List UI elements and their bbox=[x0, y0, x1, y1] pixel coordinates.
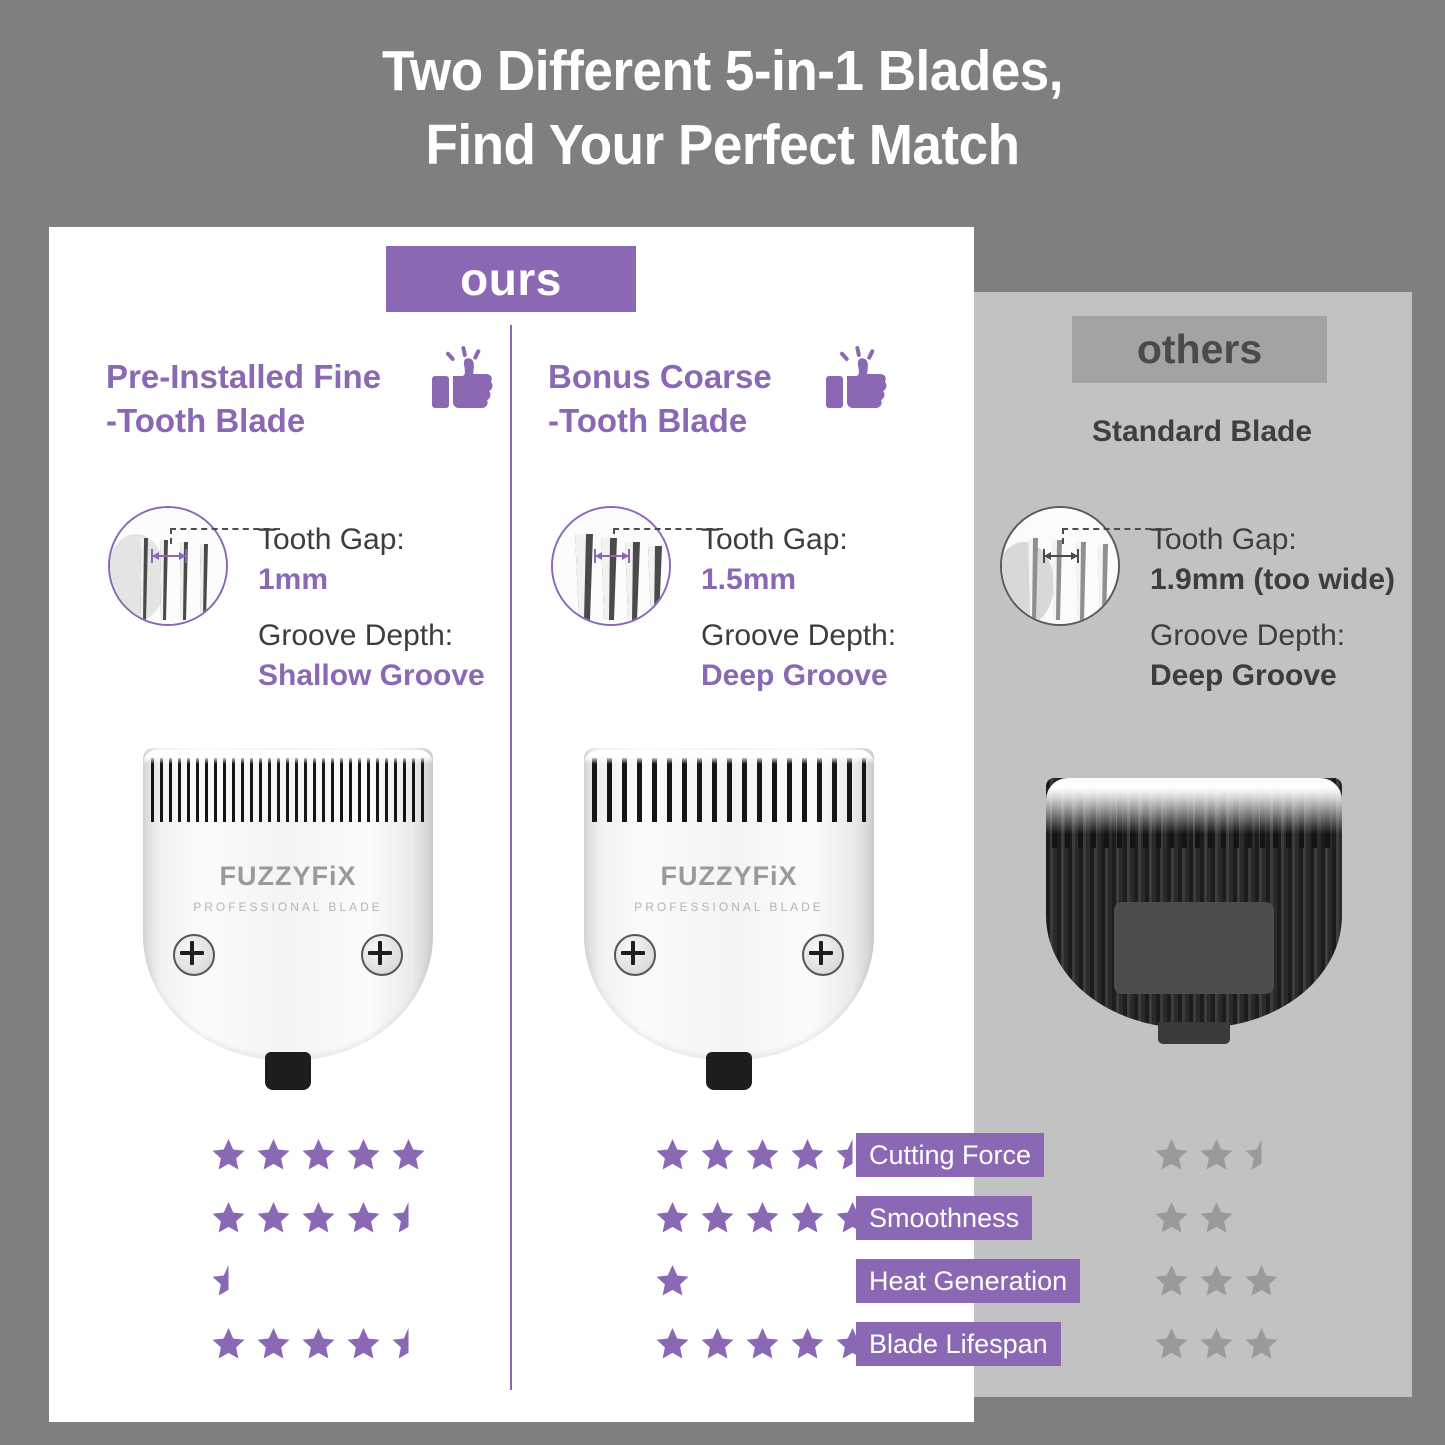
blade-image-coarse: FUZZYFiX PROFESSIONAL BLADE bbox=[584, 692, 874, 1072]
blade-teeth bbox=[151, 758, 425, 822]
groove-depth-value: Deep Groove bbox=[701, 656, 1031, 696]
blade-mount-tab bbox=[1158, 1022, 1229, 1044]
star-icon bbox=[791, 1138, 824, 1171]
groove-depth-label: Groove Depth: bbox=[701, 616, 1031, 656]
others-badge: others bbox=[1072, 316, 1327, 383]
tooth-gap-label: Tooth Gap: bbox=[1150, 520, 1445, 560]
star-icon bbox=[257, 1138, 290, 1171]
page-title: Two Different 5-in-1 Blades, Find Your P… bbox=[51, 34, 1395, 182]
thumbs-up-icon bbox=[432, 346, 494, 414]
star-icon bbox=[302, 1138, 335, 1171]
title-line-1: Two Different 5-in-1 Blades, bbox=[382, 39, 1063, 103]
blade-mount-tab bbox=[706, 1052, 752, 1090]
blade-mount-tab bbox=[265, 1052, 311, 1090]
blade-teeth bbox=[1052, 786, 1336, 848]
star-icon-half bbox=[392, 1327, 425, 1360]
star-icon bbox=[347, 1201, 380, 1234]
star-icon bbox=[656, 1201, 689, 1234]
star-icon bbox=[392, 1138, 425, 1171]
star-icon bbox=[656, 1264, 689, 1297]
magnifier-circle-coarse bbox=[551, 506, 671, 626]
rating-stars-coarse bbox=[656, 1264, 689, 1297]
screw-right bbox=[802, 934, 844, 976]
column-divider bbox=[510, 325, 512, 1390]
star-icon bbox=[257, 1327, 290, 1360]
rating-stars-fine bbox=[212, 1327, 425, 1360]
star-icon bbox=[1200, 1201, 1233, 1234]
screw-left bbox=[614, 934, 656, 976]
blade-brand-sub: PROFESSIONAL BLADE bbox=[584, 900, 874, 914]
star-icon bbox=[1245, 1327, 1278, 1360]
groove-depth-value: Deep Groove bbox=[1150, 656, 1445, 696]
infographic-root: Two Different 5-in-1 Blades, Find Your P… bbox=[0, 0, 1445, 1445]
groove-depth-label: Groove Depth: bbox=[1150, 616, 1445, 656]
star-icon bbox=[1155, 1327, 1188, 1360]
tooth-detail-icon bbox=[1002, 508, 1118, 624]
blade-panel bbox=[1114, 902, 1274, 994]
rating-stars-fine bbox=[212, 1264, 245, 1297]
star-icon bbox=[701, 1138, 734, 1171]
star-icon bbox=[1155, 1138, 1188, 1171]
magnifier-circle-others bbox=[1000, 506, 1120, 626]
gap-arrow-icon bbox=[148, 548, 190, 564]
column-heading-coarse: Bonus Coarse -Tooth Blade bbox=[548, 355, 848, 443]
star-icon bbox=[212, 1201, 245, 1234]
star-icon bbox=[701, 1201, 734, 1234]
star-icon bbox=[791, 1201, 824, 1234]
rating-stars-others bbox=[1155, 1264, 1278, 1297]
tooth-gap-value: 1.9mm (too wide) bbox=[1150, 560, 1445, 600]
blade-body bbox=[1046, 778, 1342, 1028]
tooth-gap-label: Tooth Gap: bbox=[258, 520, 588, 560]
star-icon bbox=[656, 1138, 689, 1171]
star-icon bbox=[302, 1201, 335, 1234]
blade-brand-sub: PROFESSIONAL BLADE bbox=[143, 900, 433, 914]
rating-stars-fine bbox=[212, 1201, 425, 1234]
blade-body: FUZZYFiX PROFESSIONAL BLADE bbox=[143, 748, 433, 1060]
star-icon bbox=[1245, 1264, 1278, 1297]
tooth-gap-value: 1mm bbox=[258, 560, 588, 600]
screw-left bbox=[173, 934, 215, 976]
tooth-detail-icon bbox=[553, 508, 669, 624]
tooth-detail-icon bbox=[110, 508, 226, 624]
rating-label-smoothness: Smoothness bbox=[856, 1196, 1032, 1240]
column-heading-fine: Pre-Installed Fine -Tooth Blade bbox=[106, 355, 436, 443]
rating-stars-fine bbox=[212, 1138, 425, 1171]
rating-stars-others bbox=[1155, 1327, 1278, 1360]
star-icon-half bbox=[1245, 1138, 1278, 1171]
blade-image-fine: FUZZYFiX PROFESSIONAL BLADE bbox=[143, 692, 433, 1072]
star-icon bbox=[746, 1201, 779, 1234]
rating-stars-coarse bbox=[656, 1327, 869, 1360]
rating-stars-others bbox=[1155, 1201, 1233, 1234]
rating-stars-coarse bbox=[656, 1201, 869, 1234]
ours-badge: ours bbox=[386, 246, 636, 312]
tooth-gap-value: 1.5mm bbox=[701, 560, 1031, 600]
rating-label-heat-generation: Heat Generation bbox=[856, 1259, 1080, 1303]
tooth-gap-label: Tooth Gap: bbox=[701, 520, 1031, 560]
star-icon bbox=[746, 1327, 779, 1360]
groove-depth-label: Groove Depth: bbox=[258, 616, 588, 656]
gap-arrow-icon bbox=[591, 548, 633, 564]
gap-tick bbox=[1062, 528, 1064, 544]
star-icon bbox=[1200, 1264, 1233, 1297]
star-icon bbox=[1200, 1327, 1233, 1360]
star-icon bbox=[347, 1327, 380, 1360]
rating-stars-others bbox=[1155, 1138, 1278, 1171]
gap-tick bbox=[613, 528, 615, 544]
thumbs-up-icon bbox=[826, 346, 888, 414]
gap-arrow-icon bbox=[1040, 548, 1082, 564]
star-icon bbox=[791, 1327, 824, 1360]
blade-image-others bbox=[1046, 728, 1342, 1038]
gap-tick bbox=[170, 528, 172, 544]
rating-label-blade-lifespan: Blade Lifespan bbox=[856, 1322, 1061, 1366]
blade-brand: FUZZYFiX bbox=[584, 861, 874, 892]
others-product-title: Standard Blade bbox=[1067, 415, 1337, 449]
title-line-2: Find Your Perfect Match bbox=[51, 108, 1395, 182]
star-icon bbox=[302, 1327, 335, 1360]
blade-body: FUZZYFiX PROFESSIONAL BLADE bbox=[584, 748, 874, 1060]
groove-depth-value: Shallow Groove bbox=[258, 656, 588, 696]
star-icon bbox=[212, 1138, 245, 1171]
star-icon bbox=[212, 1327, 245, 1360]
screw-right bbox=[361, 934, 403, 976]
star-icon-half bbox=[392, 1201, 425, 1234]
star-icon bbox=[1155, 1201, 1188, 1234]
star-icon bbox=[1155, 1264, 1188, 1297]
magnifier-circle-fine bbox=[108, 506, 228, 626]
star-icon bbox=[746, 1138, 779, 1171]
blade-teeth bbox=[592, 758, 866, 822]
rating-label-cutting-force: Cutting Force bbox=[856, 1133, 1044, 1177]
star-icon bbox=[257, 1201, 290, 1234]
rating-stars-coarse bbox=[656, 1138, 869, 1171]
star-icon-half bbox=[212, 1264, 245, 1297]
star-icon bbox=[701, 1327, 734, 1360]
blade-brand: FUZZYFiX bbox=[143, 861, 433, 892]
star-icon bbox=[656, 1327, 689, 1360]
star-icon bbox=[347, 1138, 380, 1171]
star-icon bbox=[1200, 1138, 1233, 1171]
